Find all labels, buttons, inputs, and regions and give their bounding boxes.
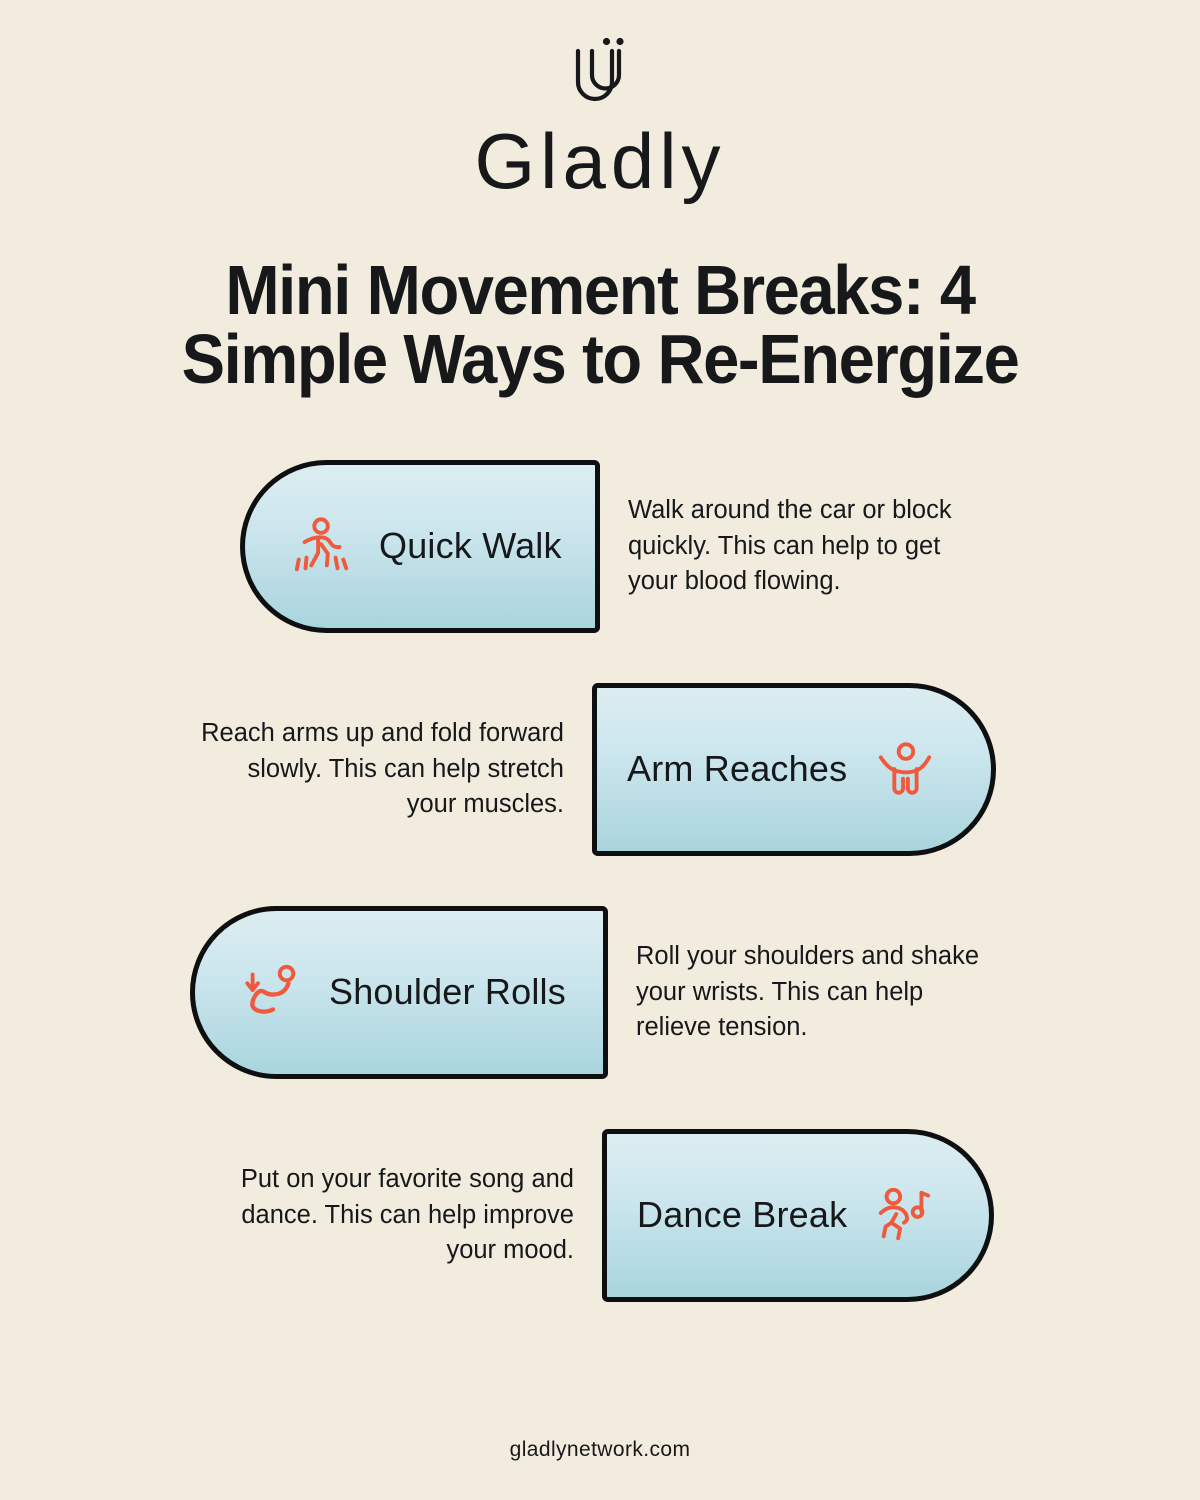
tip-pill-dance-break[interactable]: Dance Break xyxy=(602,1129,994,1302)
page-title-line-2: Simple Ways to Re-Energize xyxy=(130,325,1069,394)
tip-description: Reach arms up and fold forward slowly. T… xyxy=(196,716,564,822)
brand-header: Gladly xyxy=(0,0,1200,200)
tip-description: Roll your shoulders and shake your wrist… xyxy=(636,939,1004,1045)
walking-person-icon xyxy=(291,515,379,577)
tip-label: Arm Reaches xyxy=(627,748,847,790)
bending-person-down-arrow-icon xyxy=(241,961,329,1023)
page-title: Mini Movement Breaks: 4 Simple Ways to R… xyxy=(95,256,1105,395)
tip-pill-shoulder-rolls[interactable]: Shoulder Rolls xyxy=(190,906,608,1079)
tip-label: Shoulder Rolls xyxy=(329,971,566,1013)
dancing-person-music-note-icon xyxy=(847,1184,935,1246)
page-title-line-1: Mini Movement Breaks: 4 xyxy=(130,256,1069,325)
list-item: Shoulder Rolls Roll your shoulders and s… xyxy=(0,905,1200,1080)
list-item: Put on your favorite song and dance. Thi… xyxy=(0,1128,1200,1303)
tip-label: Quick Walk xyxy=(379,525,562,567)
tip-description: Put on your favorite song and dance. Thi… xyxy=(206,1162,574,1268)
tip-label: Dance Break xyxy=(637,1194,847,1236)
arms-raised-person-icon xyxy=(847,738,935,800)
tips-list: Quick Walk Walk around the car or block … xyxy=(0,459,1200,1303)
list-item: Reach arms up and fold forward slowly. T… xyxy=(0,682,1200,857)
brand-name: Gladly xyxy=(474,122,725,200)
tip-description: Walk around the car or block quickly. Th… xyxy=(628,493,996,599)
list-item: Quick Walk Walk around the car or block … xyxy=(0,459,1200,634)
footer-url[interactable]: gladlynetwork.com xyxy=(0,1438,1200,1462)
gladly-nested-u-mark-icon xyxy=(561,34,639,112)
tip-pill-arm-reaches[interactable]: Arm Reaches xyxy=(592,683,996,856)
tip-pill-quick-walk[interactable]: Quick Walk xyxy=(240,460,600,633)
